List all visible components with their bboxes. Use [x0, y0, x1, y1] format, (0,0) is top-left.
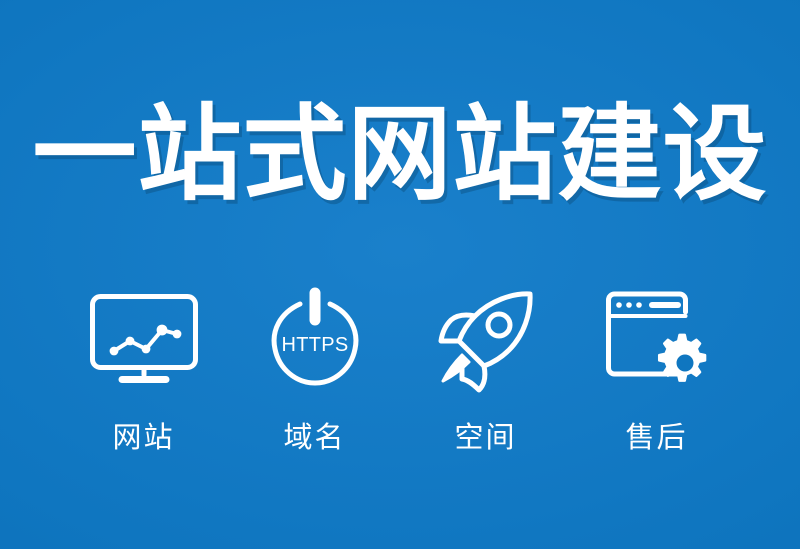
feature-list: 网站 HTTPS 域名 — [58, 286, 742, 454]
rocket-icon — [434, 286, 538, 392]
feature-label-support: 售后 — [625, 420, 687, 454]
feature-item-domain[interactable]: HTTPS 域名 — [229, 286, 400, 454]
feature-label-website: 网站 — [112, 420, 174, 454]
https-icon-text: HTTPS — [281, 334, 348, 356]
feature-item-space[interactable]: 空间 — [400, 286, 571, 454]
monitor-chart-icon — [89, 286, 199, 392]
page-title: 一站式网站建设 — [0, 96, 800, 212]
browser-gear-icon — [605, 286, 709, 392]
feature-label-domain: 域名 — [283, 420, 345, 454]
promo-banner: 一站式网站建设 网站 — [0, 0, 800, 549]
feature-item-support[interactable]: 售后 — [571, 286, 742, 454]
feature-item-website[interactable]: 网站 — [58, 286, 229, 454]
feature-label-space: 空间 — [454, 420, 516, 454]
https-power-icon: HTTPS — [267, 286, 363, 392]
